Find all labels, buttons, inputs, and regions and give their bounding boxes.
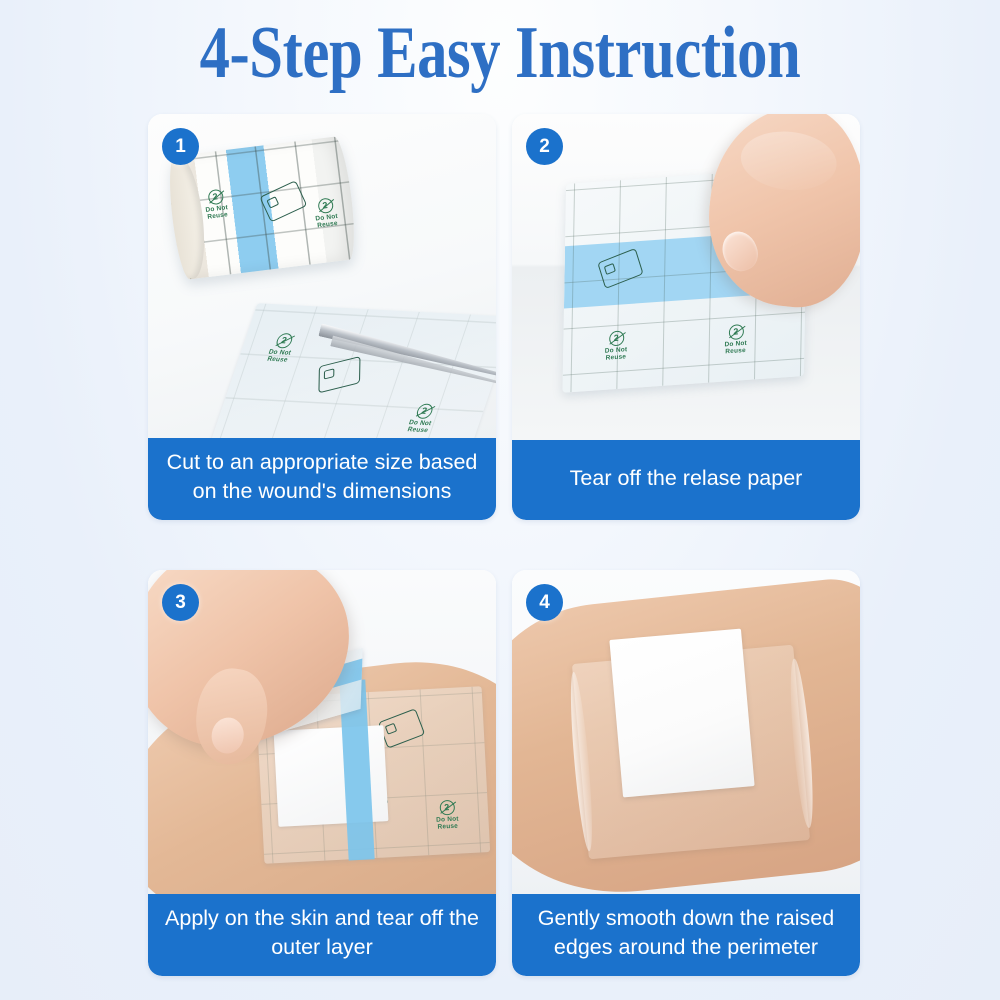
step-card-4: 4 Gently smooth down the raised edges ar…: [512, 570, 860, 976]
step-1-photo: 2 Do Not Reuse 2 Do Not Reuse 2 Do Not R…: [148, 114, 496, 438]
steps-grid: 2 Do Not Reuse 2 Do Not Reuse 2 Do Not R…: [148, 114, 860, 976]
page-title: 4-Step Easy Instruction: [90, 14, 910, 92]
instruction-infographic: 4-Step Easy Instruction 2 Do Not Reuse 2…: [0, 0, 1000, 1000]
do-not-reuse-symbol: 2: [274, 333, 294, 349]
do-not-reuse-icon: 2 Do Not Reuse: [429, 799, 465, 831]
do-not-reuse-symbol: 2: [609, 330, 624, 346]
step-caption-1: Cut to an appropriate size based on the …: [148, 438, 496, 520]
do-not-reuse-symbol: 2: [728, 324, 743, 340]
do-not-reuse-icon: 2 Do Not Reuse: [719, 323, 753, 355]
step-2-photo: 2 Do Not Reuse 2 Do Not Reuse 2: [512, 114, 860, 440]
step-badge-1: 1: [162, 128, 199, 165]
do-not-reuse-icon: 2 Do Not Reuse: [599, 330, 633, 362]
do-not-reuse-label: Do Not Reuse: [599, 346, 633, 362]
knuckle-highlight: [738, 127, 840, 195]
do-not-reuse-icon: 2 Do Not Reuse: [198, 188, 235, 222]
do-not-reuse-symbol: 2: [414, 403, 434, 419]
step-badge-4: 4: [526, 584, 563, 621]
step-caption-3: Apply on the skin and tear off the outer…: [148, 894, 496, 976]
step-card-2: 2 Do Not Reuse 2 Do Not Reuse 2 Tear off…: [512, 114, 860, 520]
do-not-reuse-icon: 2 Do Not Reuse: [307, 196, 344, 230]
step-card-1: 2 Do Not Reuse 2 Do Not Reuse 2 Do Not R…: [148, 114, 496, 520]
step-caption-2: Tear off the relase paper: [512, 440, 860, 520]
step-3-photo: 2 Do Not Reuse 3: [148, 570, 496, 894]
step-badge-2: 2: [526, 128, 563, 165]
step-caption-4: Gently smooth down the raised edges arou…: [512, 894, 860, 976]
step-badge-3: 3: [162, 584, 199, 621]
fingernail: [717, 226, 764, 276]
step-4-photo: 4: [512, 570, 860, 894]
do-not-reuse-label: Do Not Reuse: [430, 815, 465, 831]
step-card-3: 2 Do Not Reuse 3 Apply on the skin and t…: [148, 570, 496, 976]
do-not-reuse-symbol: 2: [207, 189, 224, 206]
do-not-reuse-symbol: 2: [317, 197, 334, 214]
do-not-reuse-symbol: 2: [439, 800, 455, 816]
do-not-reuse-label: Do Not Reuse: [400, 419, 438, 435]
do-not-reuse-label: Do Not Reuse: [260, 348, 298, 364]
white-absorbent-pad: [609, 629, 754, 798]
do-not-reuse-label: Do Not Reuse: [719, 339, 753, 355]
